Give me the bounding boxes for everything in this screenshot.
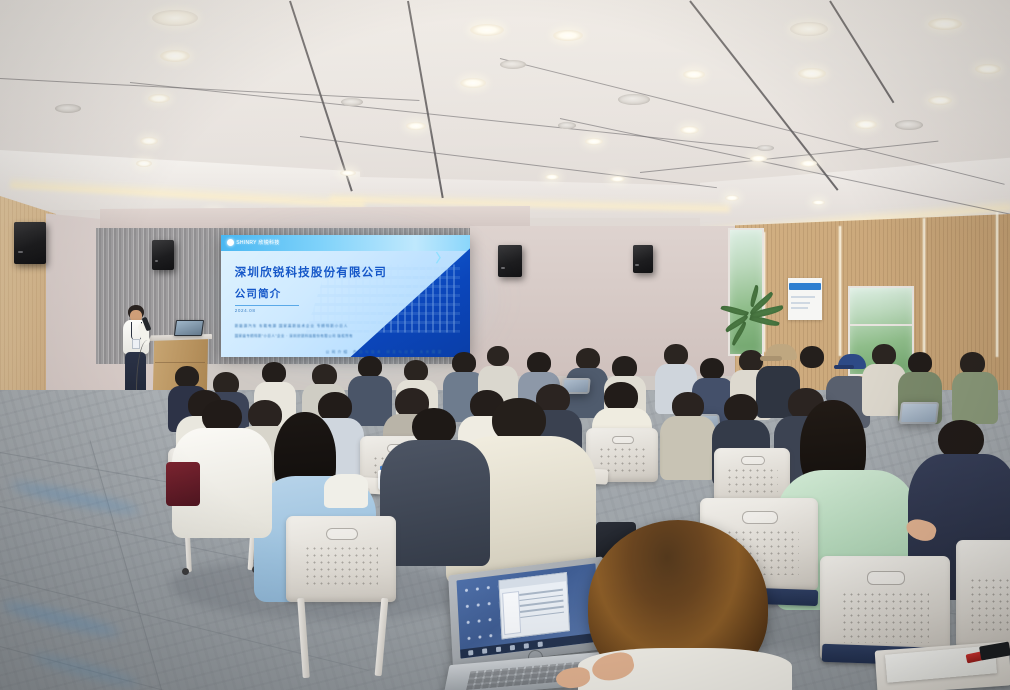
ceiling-speaker	[558, 122, 576, 129]
attendee-head	[872, 344, 896, 366]
open-window[interactable]	[498, 572, 570, 639]
attendee-head	[800, 346, 824, 368]
attendee-torso	[380, 440, 490, 566]
slide-title: 深圳欣锐科技股份有限公司	[235, 264, 387, 280]
chair-perforation	[969, 577, 1010, 631]
wall-speaker	[633, 245, 653, 273]
wall-speaker	[14, 222, 46, 264]
chair-back	[956, 540, 1010, 648]
chair-caster	[182, 568, 189, 575]
training-chair[interactable]	[286, 516, 396, 602]
downlight	[610, 176, 625, 182]
downlight	[812, 200, 825, 205]
downlight	[470, 24, 504, 36]
chair-handle	[867, 571, 905, 585]
downlight	[140, 137, 158, 145]
wall-speaker	[152, 240, 174, 270]
logo-text: SHINRY 欣锐科技	[236, 239, 279, 246]
desktop-icons[interactable]	[461, 579, 501, 649]
ceiling-speaker	[895, 120, 923, 130]
taskbar-icon[interactable]	[510, 645, 515, 650]
downlight	[928, 96, 952, 105]
chair-perforation	[841, 591, 929, 643]
downlight	[725, 195, 739, 201]
attendee-head	[664, 344, 688, 366]
downlight	[683, 70, 705, 79]
slide-date: 2024.08	[235, 308, 256, 313]
attendee-cap-brim	[760, 356, 782, 361]
attendee-torso	[660, 416, 716, 480]
poster-line	[791, 302, 810, 304]
poster-line	[791, 307, 807, 309]
window-titlebar	[499, 574, 566, 590]
poster-line	[791, 296, 815, 298]
downlight	[545, 174, 559, 180]
window-sidebar[interactable]	[502, 591, 521, 635]
downlight	[152, 10, 198, 26]
attendee-head	[487, 346, 509, 366]
chair-back	[286, 516, 396, 602]
poster-header-bar	[789, 283, 820, 290]
downlight	[553, 30, 583, 41]
downlight	[148, 94, 170, 103]
conference-room-photo: SHINRY 欣锐科技 〉 深圳欣锐科技股份有限公司 公司简介 2024.08 …	[0, 0, 1010, 690]
ceiling-speaker	[757, 145, 774, 151]
downlight	[340, 170, 356, 176]
attendee-foreground-dark	[380, 408, 490, 568]
chair-perforation	[304, 545, 379, 588]
wall-speaker	[498, 245, 522, 277]
ceiling-speaker	[55, 104, 81, 113]
downlight	[928, 18, 962, 30]
downlight	[975, 64, 1001, 74]
slide-subtitle: 公司简介	[235, 286, 282, 301]
downlight	[680, 126, 699, 134]
downlight	[160, 50, 190, 62]
plant-frond	[749, 314, 779, 328]
downlight	[585, 138, 603, 145]
downlight	[406, 122, 426, 130]
taskbar-icon[interactable]	[496, 647, 501, 652]
training-chair[interactable]	[956, 540, 1010, 648]
attendee-collar	[324, 474, 368, 508]
taskbar-icon[interactable]	[524, 643, 529, 648]
logo-dot-icon	[227, 239, 234, 246]
company-logo: SHINRY 欣锐科技	[227, 238, 279, 248]
ceiling-speaker	[618, 94, 650, 105]
window-mullion	[848, 324, 914, 326]
downlight	[136, 160, 152, 167]
wall-poster	[788, 278, 822, 320]
slide-fine-text-1: 新能源汽车 车载电源 国家高新技术企业 专精特新小巨人	[235, 324, 349, 329]
downlight	[790, 22, 828, 36]
chair-handle	[612, 436, 634, 444]
ceiling-speaker	[500, 60, 526, 69]
taskbar-icon[interactable]	[538, 642, 543, 647]
backpack	[166, 462, 200, 506]
downlight	[800, 160, 817, 167]
taskbar-icon[interactable]	[482, 649, 487, 654]
taskbar-icon[interactable]	[469, 650, 474, 655]
downlight	[855, 120, 877, 129]
downlight	[750, 155, 767, 162]
chair-handle	[741, 456, 764, 465]
chair-handle	[326, 528, 359, 540]
attendee-head	[576, 348, 600, 370]
attendee-cap-brim	[834, 365, 854, 369]
downlight	[460, 78, 486, 88]
window-row	[520, 611, 564, 618]
slide-corner-mark: 〉	[436, 249, 448, 266]
ceiling-speaker	[341, 98, 363, 106]
slide-divider	[235, 305, 300, 306]
chair-perforation	[726, 467, 778, 495]
downlight	[798, 68, 826, 79]
